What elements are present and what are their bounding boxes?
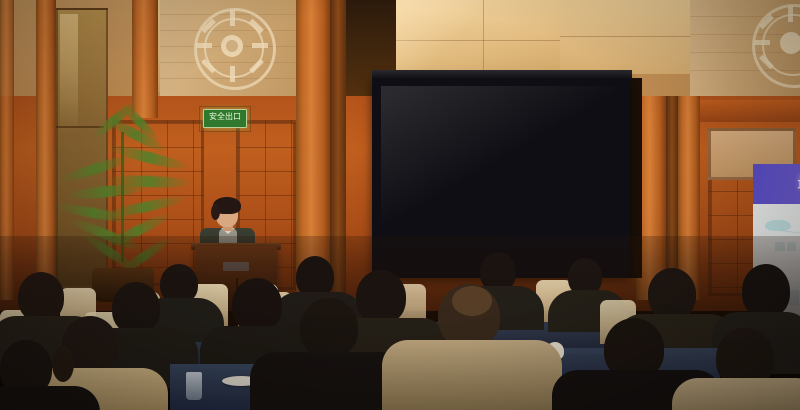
wood-header-right <box>700 100 800 122</box>
audience-head <box>232 278 282 332</box>
presenter-hair-side <box>211 204 220 220</box>
audience-head <box>742 264 790 318</box>
audience-shoulders-front <box>382 340 562 410</box>
audience-shoulders-front <box>0 386 100 410</box>
water-glass <box>186 372 202 400</box>
audience-head <box>648 268 696 320</box>
slide-title-band: 最新校园网络拓扑 <box>753 164 800 204</box>
exit-sign-mount <box>199 106 251 132</box>
audience-head <box>356 270 406 324</box>
medallion-panel-left <box>160 0 305 96</box>
audience-head <box>112 282 160 334</box>
medallion-panel-right <box>690 0 800 104</box>
audience-area <box>0 236 800 410</box>
audience-head <box>18 272 64 322</box>
bald-spot <box>452 286 492 316</box>
upper-wall-panel-center <box>395 0 570 78</box>
wall-pilaster-2 <box>132 0 158 118</box>
audience-head <box>300 298 358 358</box>
ponytail <box>52 346 74 382</box>
conference-hall-photo: 安全出口 最新校园网络拓扑 合肥学院校园网络拓扑示意图 <box>0 0 800 410</box>
slide-subtitle: 合肥学院校园网络拓扑示意图 <box>753 207 800 217</box>
upper-wall-panel-right <box>560 0 690 74</box>
cloud-icon-1 <box>765 220 791 231</box>
slide-title: 最新校园网络拓扑 <box>753 173 800 193</box>
audience-shoulders-front <box>672 378 800 410</box>
